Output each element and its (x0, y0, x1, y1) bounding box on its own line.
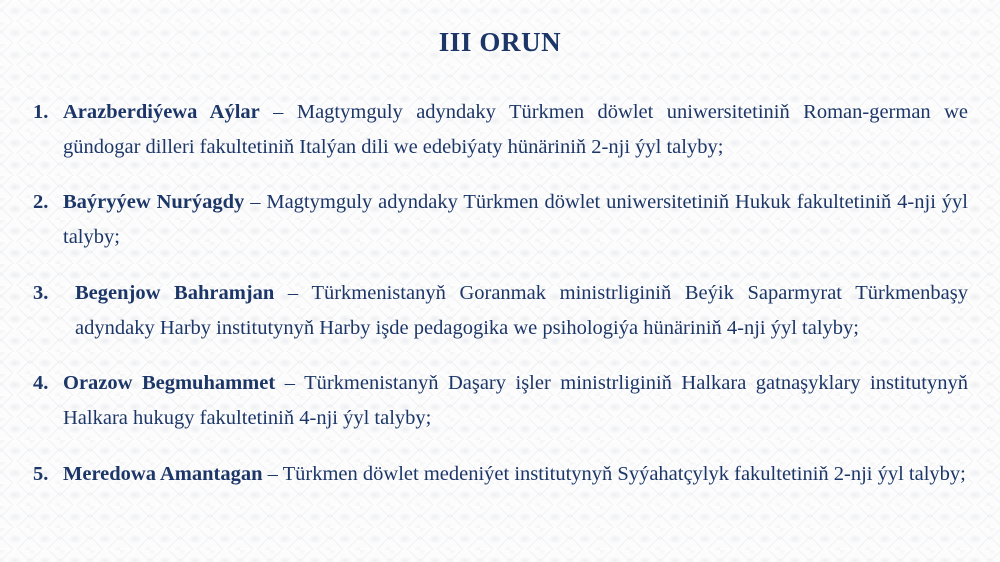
list-item-name: Orazow Begmuhammet (63, 372, 275, 394)
list-item-name: Begenjow Bahramjan (75, 282, 274, 304)
list-item-dash: – (260, 101, 297, 123)
award-list: 1.Arazberdiýewa Aýlar – Magtymguly adynd… (33, 74, 968, 492)
list-item-name: Arazberdiýewa Aýlar (63, 101, 260, 123)
list-item-dash: – (244, 191, 266, 213)
list-item: 2.Baýryýew Nurýagdy – Magtymguly adyndak… (33, 185, 968, 255)
slide: III ORUN 1.Arazberdiýewa Aýlar – Magtymg… (0, 0, 1000, 562)
list-item: 3.Begenjow Bahramjan – Türkmenistanyň Go… (33, 276, 968, 346)
list-item-number: 3. (33, 276, 59, 311)
list-item-dash: – (275, 372, 304, 394)
page-title: III ORUN (0, 28, 1000, 58)
list-item: 5.Meredowa Amantagan – Türkmen döwlet me… (33, 457, 968, 492)
list-item-dash: – (263, 463, 283, 485)
list-item-description: Türkmen döwlet medeniýet institutynyň Sy… (283, 463, 966, 485)
list-item: 4.Orazow Begmuhammet – Türkmenistanyň Da… (33, 366, 968, 436)
list-item-number: 1. (33, 95, 59, 130)
slide-content: III ORUN 1.Arazberdiýewa Aýlar – Magtymg… (0, 0, 1000, 562)
list-item: 1.Arazberdiýewa Aýlar – Magtymguly adynd… (33, 95, 968, 165)
list-item-dash: – (274, 282, 311, 304)
list-item-number: 2. (33, 185, 59, 220)
list-item-number: 4. (33, 366, 59, 401)
list-item-name: Meredowa Amantagan (63, 463, 263, 485)
list-item-number: 5. (33, 457, 59, 492)
list-item-name: Baýryýew Nurýagdy (63, 191, 244, 213)
